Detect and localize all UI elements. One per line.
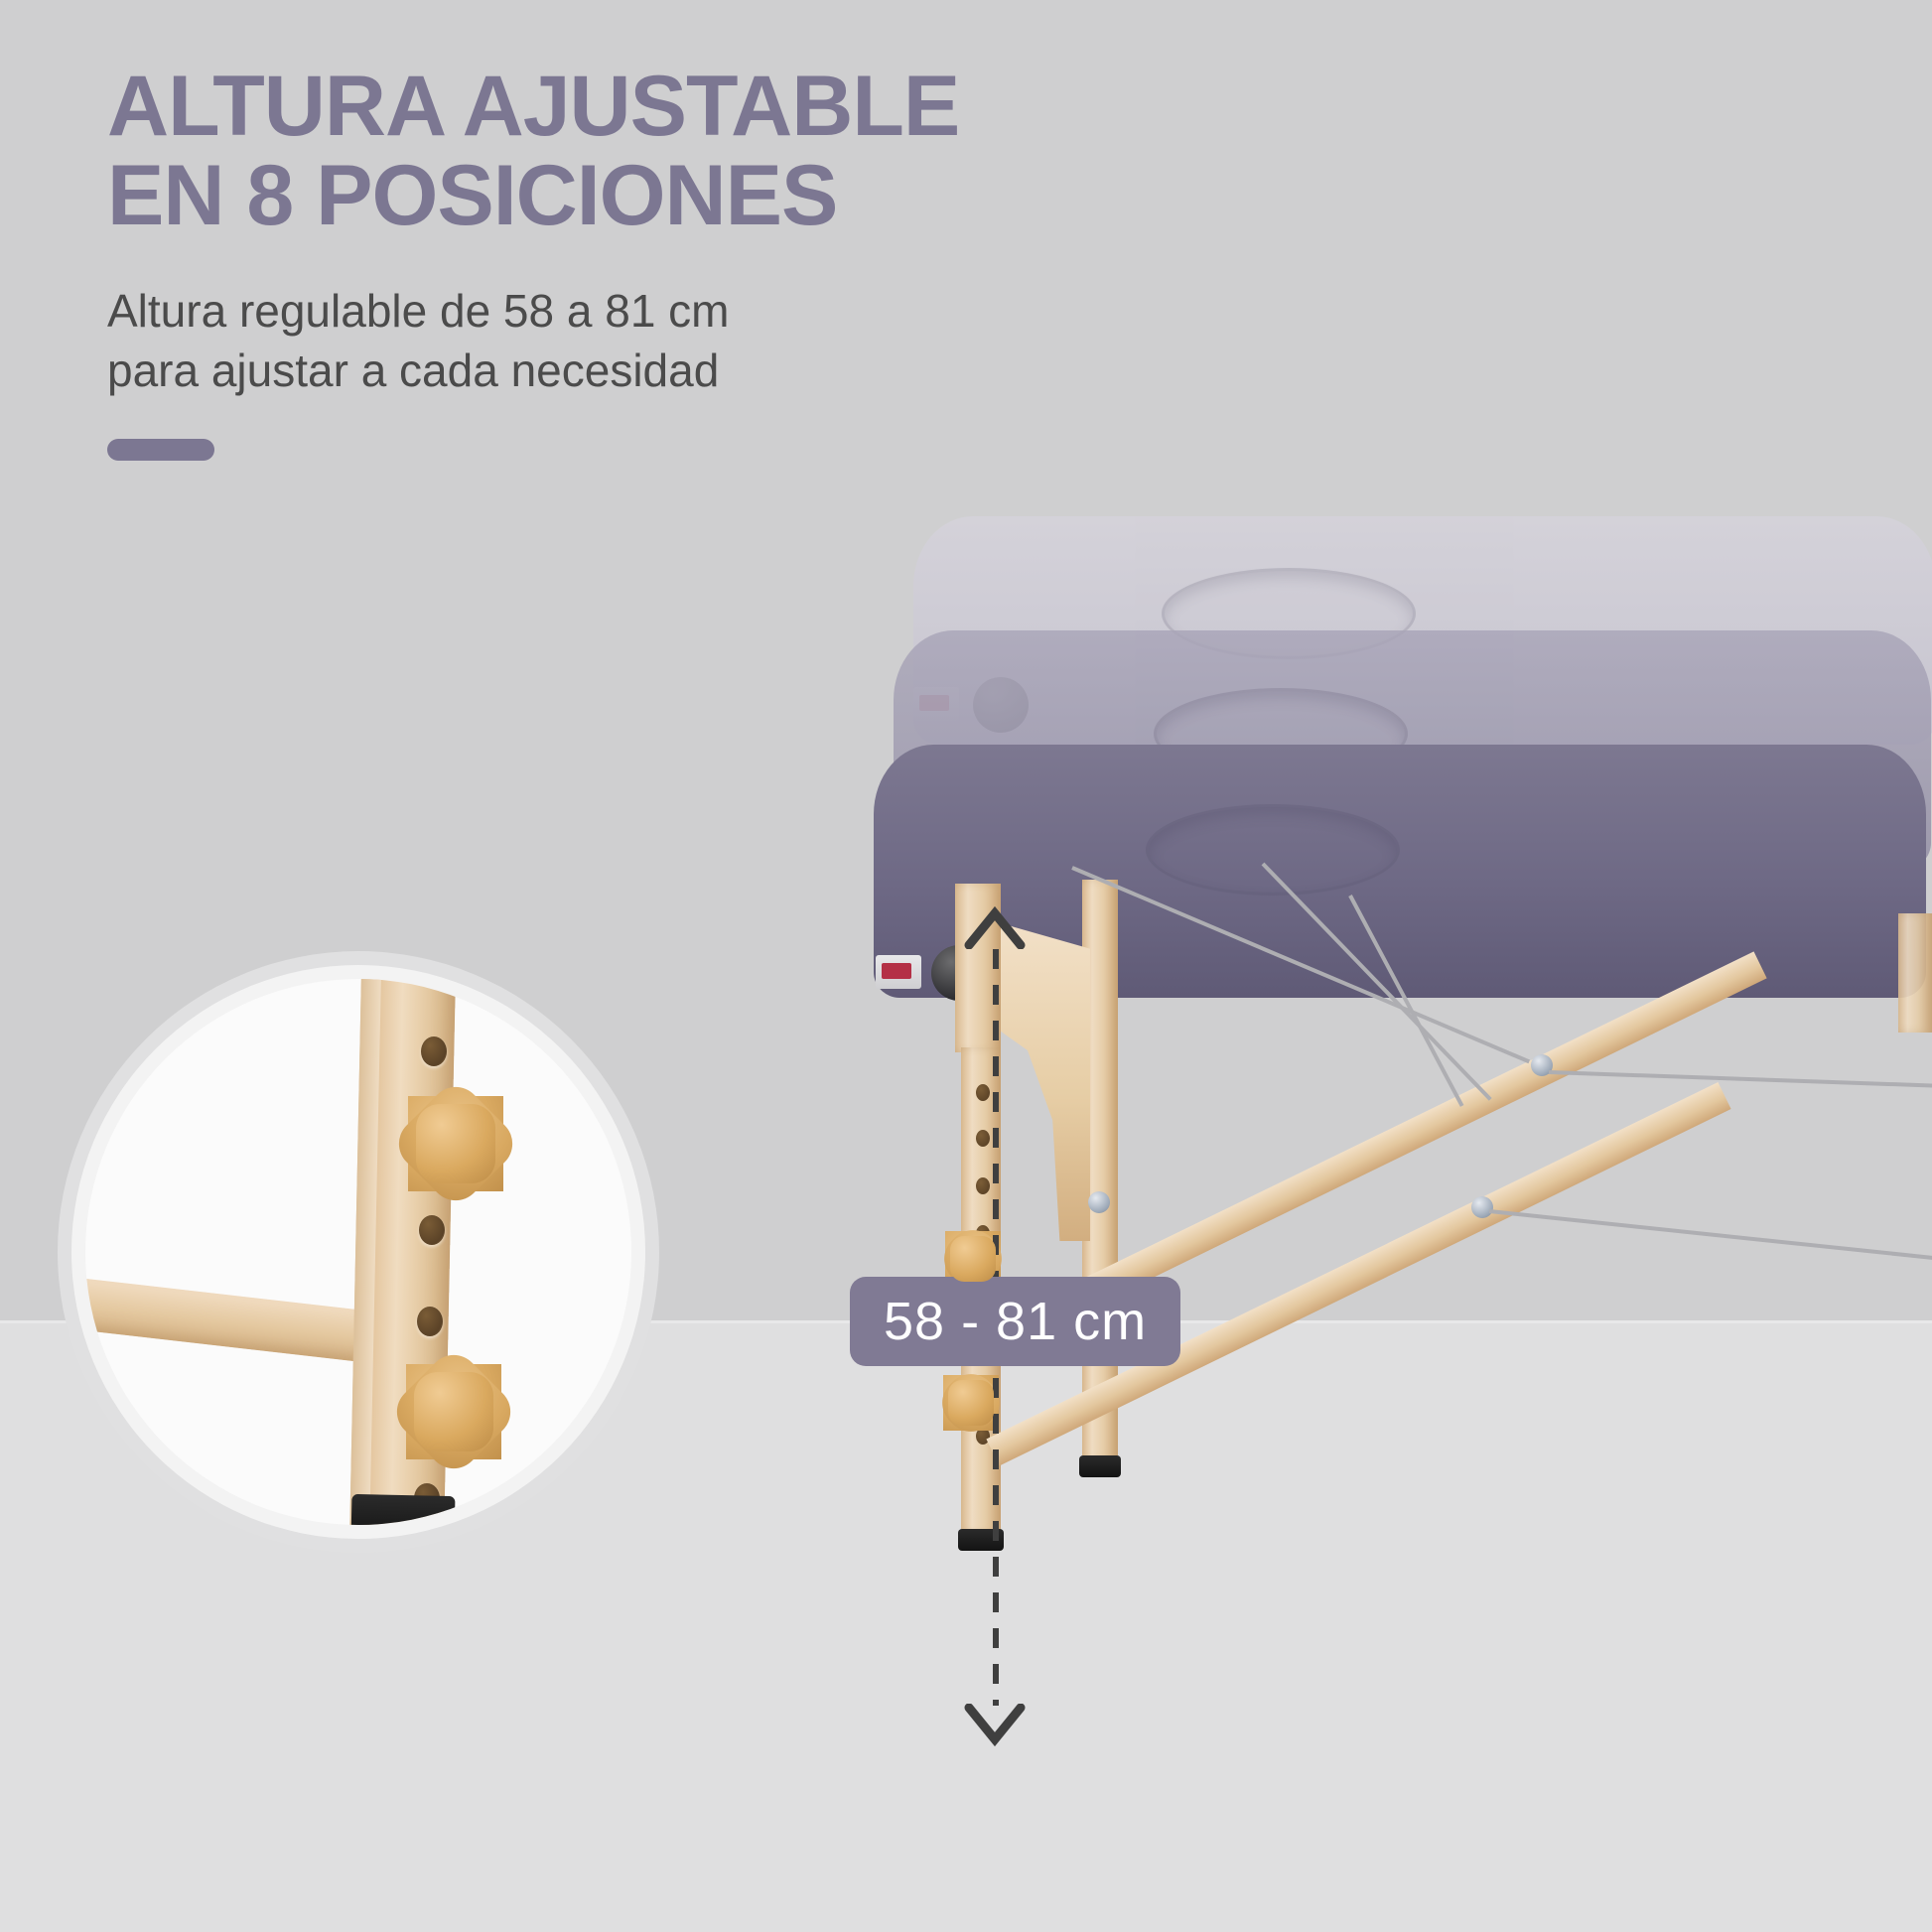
up-arrow-icon xyxy=(964,905,1026,949)
inset-foot-cap xyxy=(351,1494,456,1525)
inset-lower-knob xyxy=(406,1364,501,1459)
brand-tag-low xyxy=(876,955,921,989)
down-arrow-icon xyxy=(964,1704,1026,1747)
page-title: ALTURA AJUSTABLE EN 8 POSICIONES xyxy=(107,62,1199,241)
title-line-1: ALTURA AJUSTABLE xyxy=(107,59,959,154)
inset-adjust-hole xyxy=(419,1215,445,1245)
height-range-badge: 58 - 81 cm xyxy=(850,1277,1180,1366)
inset-lower-knob-body xyxy=(414,1372,493,1451)
leg-knob-upper-body xyxy=(950,1236,996,1282)
inset-upper-knob-body xyxy=(416,1104,495,1183)
face-cradle-hole xyxy=(1146,804,1400,896)
frame-screw xyxy=(1088,1191,1110,1213)
support-cable-d xyxy=(1489,1209,1932,1260)
subtitle-line-2: para ajustar a cada necesidad xyxy=(107,341,1199,401)
leg-closeup-inset xyxy=(71,965,645,1539)
subtitle-block: Altura regulable de 58 a 81 cm para ajus… xyxy=(107,281,1199,401)
leg-foot-cap-back-left xyxy=(1079,1455,1121,1477)
inset-upper-knob xyxy=(408,1096,503,1191)
leg-support-panel xyxy=(1001,923,1090,1241)
accent-divider-bar xyxy=(107,439,214,461)
massage-table-illustration xyxy=(1052,596,1932,1787)
brace-pivot-screw-lower xyxy=(1471,1196,1493,1218)
leg-knob-lower-body xyxy=(948,1380,994,1426)
inset-content xyxy=(85,979,631,1525)
infographic-canvas: ALTURA AJUSTABLE EN 8 POSICIONES Altura … xyxy=(0,0,1932,1932)
title-line-2: EN 8 POSICIONES xyxy=(107,151,1199,240)
inset-adjust-hole xyxy=(417,1307,443,1336)
leg-far-right xyxy=(1898,913,1932,1033)
inset-crossbar xyxy=(85,1278,375,1363)
subtitle-line-1: Altura regulable de 58 a 81 cm xyxy=(107,281,1199,342)
support-cable-c xyxy=(1549,1070,1932,1088)
inset-adjust-hole xyxy=(421,1036,447,1066)
headline-block: ALTURA AJUSTABLE EN 8 POSICIONES Altura … xyxy=(107,62,1199,461)
